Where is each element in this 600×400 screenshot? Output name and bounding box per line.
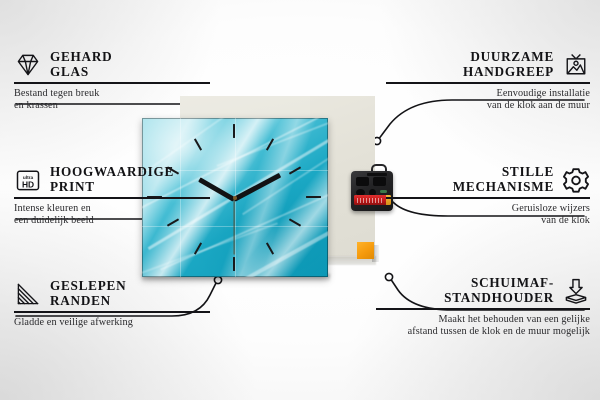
- ultra-hd-icon: ultra HD: [14, 166, 42, 194]
- feature-desc-1: Maakt het behouden van een gelijke: [376, 314, 590, 326]
- feature-desc-1: Gladde en veilige afwerking: [14, 317, 210, 329]
- divider: [386, 82, 590, 83]
- divider: [376, 308, 590, 309]
- feature-desc-2: een duidelijk beeld: [14, 215, 210, 227]
- gear-icon: [562, 166, 590, 194]
- divider: [14, 311, 210, 312]
- feature-title: HOOGWAARDIGE: [50, 165, 174, 180]
- feature-duurzame-handgreep: DUURZAME HANDGREEP Eenvoudige installati…: [386, 50, 590, 112]
- foam-spacer: [357, 242, 374, 259]
- bevelled-edge-icon: [14, 280, 42, 308]
- clock-center-pin: [233, 196, 237, 200]
- hanging-picture-icon: [562, 51, 590, 79]
- clock-second-hand: [233, 199, 234, 255]
- svg-text:HD: HD: [22, 179, 34, 189]
- feature-desc-2: afstand tussen de klok en de muur mogeli…: [376, 326, 590, 338]
- feature-geslepen-randen: GESLEPEN RANDEN Gladde en veilige afwerk…: [14, 279, 210, 329]
- battery-label: [357, 198, 383, 203]
- foam-spacer-icon: [562, 277, 590, 305]
- feature-desc-2: en krassen: [14, 100, 210, 112]
- feature-title: SCHUIMAF-: [444, 276, 554, 291]
- feature-desc-2: van de klok: [386, 215, 590, 227]
- feature-desc-1: Eenvoudige installatie: [386, 88, 590, 100]
- infographic-canvas: GEHARD GLAS Bestand tegen breuk en krass…: [0, 0, 600, 400]
- feature-desc-1: Geruisloze wijzers: [386, 203, 590, 215]
- feature-title-2: STANDHOUDER: [444, 291, 554, 306]
- feature-title: DUURZAME: [463, 50, 554, 65]
- feature-title-2: MECHANISME: [453, 180, 554, 195]
- feature-schuimafstandhouder: SCHUIMAF- STANDHOUDER Maakt het behouden…: [376, 276, 590, 338]
- feature-title: GEHARD: [50, 50, 112, 65]
- feature-title-2: HANDGREEP: [463, 65, 554, 80]
- feature-hoogwaardige-print: ultra HD HOOGWAARDIGE PRINT Intense kleu…: [14, 165, 210, 227]
- feature-title: GESLEPEN: [50, 279, 126, 294]
- feature-gehard-glas: GEHARD GLAS Bestand tegen breuk en krass…: [14, 50, 210, 112]
- clock-minute-hand: [233, 173, 281, 201]
- feature-desc-2: van de klok aan de muur: [386, 100, 590, 112]
- diamond-icon: [14, 51, 42, 79]
- feature-stille-mechanisme: STILLE MECHANISME Geruisloze wijzers van…: [386, 165, 590, 227]
- feature-desc-1: Bestand tegen breuk: [14, 88, 210, 100]
- clock-mechanism-shaft: [367, 173, 387, 176]
- divider: [14, 82, 210, 83]
- divider: [386, 197, 590, 198]
- divider: [14, 197, 210, 198]
- feature-title-2: GLAS: [50, 65, 112, 80]
- feature-title: STILLE: [453, 165, 554, 180]
- feature-title-2: PRINT: [50, 180, 174, 195]
- feature-desc-1: Intense kleuren en: [14, 203, 210, 215]
- feature-title-2: RANDEN: [50, 294, 126, 309]
